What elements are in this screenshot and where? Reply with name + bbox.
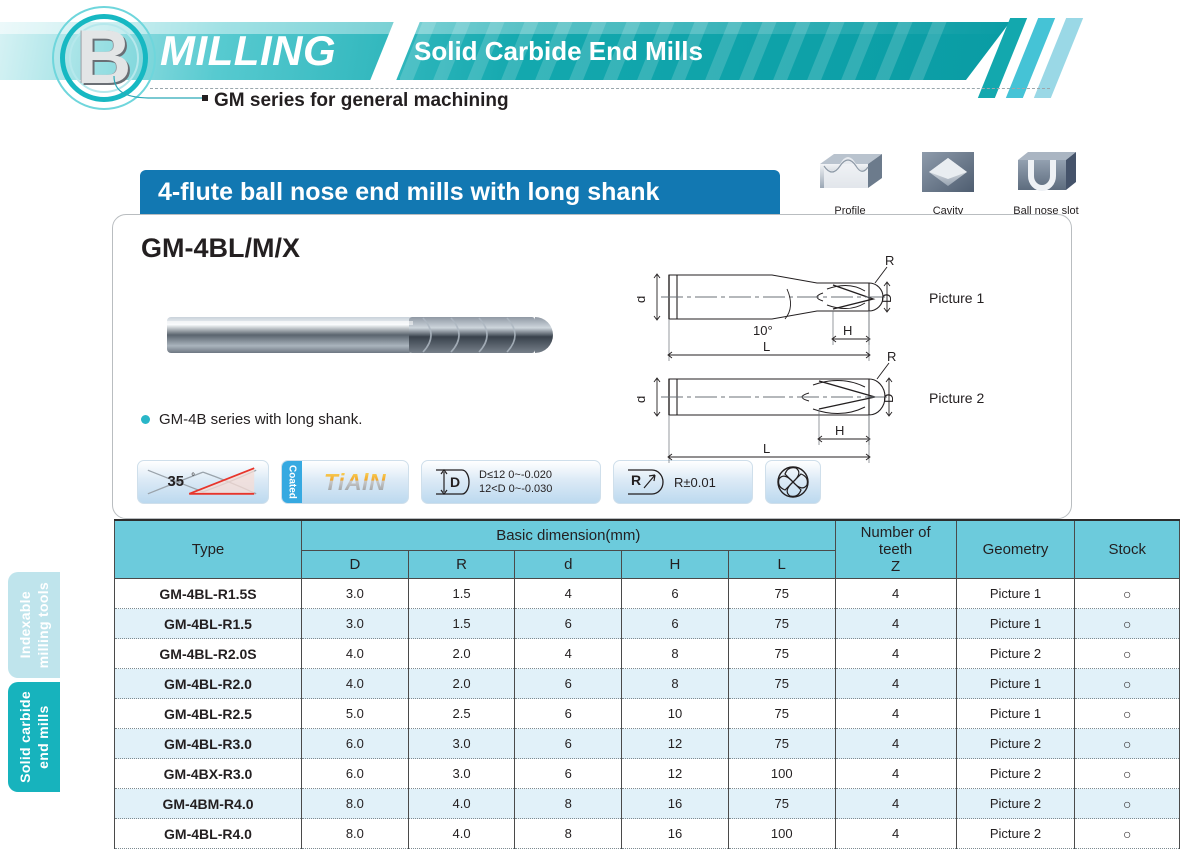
col-header-type: Type xyxy=(115,520,302,579)
application-icon-profile: Profile xyxy=(812,146,888,218)
svg-text:D: D xyxy=(879,294,894,303)
bullet-dot-icon xyxy=(141,415,150,424)
cell-stock: ○ xyxy=(1075,609,1180,639)
specification-table: Type Basic dimension(mm) Number of teeth… xyxy=(114,519,1180,849)
coating-badge: Coated TiAlN xyxy=(281,460,409,504)
sidebar-item-label-line1: Indexable xyxy=(17,591,33,658)
cell-Z: 4 xyxy=(835,699,956,729)
cell-Z: 4 xyxy=(835,759,956,789)
cell-type: GM-4BL-R1.5S xyxy=(115,579,302,609)
technical-drawings: d D R 10° H L Picture 1 xyxy=(637,249,1057,479)
cell-type: GM-4BX-R3.0 xyxy=(115,759,302,789)
cell-L: 75 xyxy=(728,579,835,609)
cell-L: 100 xyxy=(728,759,835,789)
cell-D: 5.0 xyxy=(302,699,409,729)
feature-bullet-text: GM-4B series with long shank. xyxy=(159,411,362,428)
helix-angle-icon: 35 ° xyxy=(138,460,268,504)
cell-D: 4.0 xyxy=(302,669,409,699)
cell-stock: ○ xyxy=(1075,639,1180,669)
cell-geometry: Picture 2 xyxy=(956,819,1075,849)
cell-geometry: Picture 2 xyxy=(956,639,1075,669)
cell-D: 8.0 xyxy=(302,789,409,819)
cell-Z: 4 xyxy=(835,729,956,759)
cell-R: 4.0 xyxy=(408,789,515,819)
cell-D: 3.0 xyxy=(302,609,409,639)
profile-icon xyxy=(812,146,888,198)
cell-H: 6 xyxy=(622,579,729,609)
table-row: GM-4BL-R3.06.03.0612754Picture 2○ xyxy=(115,729,1180,759)
cell-stock: ○ xyxy=(1075,699,1180,729)
cell-geometry: Picture 1 xyxy=(956,669,1075,699)
cell-type: GM-4BL-R2.5 xyxy=(115,699,302,729)
cell-d: 6 xyxy=(515,759,622,789)
cell-geometry: Picture 2 xyxy=(956,759,1075,789)
cell-L: 75 xyxy=(728,699,835,729)
cell-geometry: Picture 2 xyxy=(956,789,1075,819)
col-header-d: d xyxy=(515,551,622,579)
cell-R: 2.0 xyxy=(408,639,515,669)
product-photo xyxy=(161,305,561,365)
table-row: GM-4BL-R4.08.04.08161004Picture 2○ xyxy=(115,819,1180,849)
application-icon-ball-nose-slot: Ball nose slot xyxy=(1008,146,1084,218)
cell-stock: ○ xyxy=(1075,819,1180,849)
table-row: GM-4BL-R1.53.01.566754Picture 1○ xyxy=(115,609,1180,639)
cell-Z: 4 xyxy=(835,819,956,849)
cell-R: 4.0 xyxy=(408,819,515,849)
col-header-H: H xyxy=(622,551,729,579)
cell-stock: ○ xyxy=(1075,759,1180,789)
header-corner-stripes xyxy=(988,18,1118,98)
table-row: GM-4BX-R3.06.03.06121004Picture 2○ xyxy=(115,759,1180,789)
cell-H: 12 xyxy=(622,729,729,759)
col-header-basic-dimension: Basic dimension(mm) xyxy=(302,520,836,551)
cavity-icon xyxy=(910,146,986,198)
drawing-picture-2: d D R H L Picture 2 xyxy=(637,349,984,463)
table-header-row-1: Type Basic dimension(mm) Number of teeth… xyxy=(115,520,1180,551)
cell-geometry: Picture 1 xyxy=(956,609,1075,639)
sidebar-item-label-line2: milling tools xyxy=(35,582,51,668)
cell-L: 100 xyxy=(728,819,835,849)
svg-text:°: ° xyxy=(191,472,195,483)
drawing-picture-1: d D R 10° H L Picture 1 xyxy=(637,253,984,361)
tolerance-line-1: D≤12 0~-0.020 xyxy=(479,468,552,482)
svg-text:H: H xyxy=(843,323,852,338)
sidebar-item-solid-carbide-end-mills[interactable]: Solid carbide end mills xyxy=(8,682,60,792)
cell-type: GM-4BL-R2.0S xyxy=(115,639,302,669)
page-title: MILLING xyxy=(160,27,336,75)
cell-type: GM-4BL-R3.0 xyxy=(115,729,302,759)
picture-2-label: Picture 2 xyxy=(929,390,984,406)
cell-type: GM-4BL-R1.5 xyxy=(115,609,302,639)
cell-D: 6.0 xyxy=(302,729,409,759)
section-banner: 4-flute ball nose end mills with long sh… xyxy=(140,170,780,214)
cell-L: 75 xyxy=(728,609,835,639)
tolerance-line-2: 12<D 0~-0.030 xyxy=(479,482,552,496)
cell-R: 2.5 xyxy=(408,699,515,729)
cell-L: 75 xyxy=(728,729,835,759)
cell-type: GM-4BL-R2.0 xyxy=(115,669,302,699)
cell-R: 3.0 xyxy=(408,729,515,759)
col-header-number-of-teeth: Number of teeth Z xyxy=(835,520,956,579)
ball-nose-slot-icon xyxy=(1008,146,1084,198)
cell-stock: ○ xyxy=(1075,579,1180,609)
sidebar-item-label-line2: end mills xyxy=(35,705,51,768)
cell-R: 2.0 xyxy=(408,669,515,699)
cell-D: 8.0 xyxy=(302,819,409,849)
application-icons: Profile Cavity xyxy=(812,146,1092,220)
col-header-L: L xyxy=(728,551,835,579)
cell-d: 6 xyxy=(515,669,622,699)
svg-text:d: d xyxy=(637,396,648,403)
cell-H: 12 xyxy=(622,759,729,789)
page-subtitle: Solid Carbide End Mills xyxy=(414,35,703,67)
cell-d: 6 xyxy=(515,729,622,759)
svg-text:10°: 10° xyxy=(753,323,773,338)
cell-type: GM-4BM-R4.0 xyxy=(115,789,302,819)
svg-text:R: R xyxy=(887,349,896,364)
col-header-stock: Stock xyxy=(1075,520,1180,579)
cell-H: 8 xyxy=(622,669,729,699)
series-note: GM series for general machining xyxy=(214,89,509,113)
cell-d: 4 xyxy=(515,639,622,669)
cell-L: 75 xyxy=(728,669,835,699)
svg-text:R: R xyxy=(885,253,894,268)
table-body: GM-4BL-R1.5S3.01.546754Picture 1○GM-4BL-… xyxy=(115,579,1180,849)
cell-d: 6 xyxy=(515,699,622,729)
cell-H: 6 xyxy=(622,609,729,639)
diameter-tolerance-badge: D D≤12 0~-0.020 12<D 0~-0.030 xyxy=(421,460,601,504)
cell-type: GM-4BL-R4.0 xyxy=(115,819,302,849)
svg-text:H: H xyxy=(835,423,844,438)
section-banner-title: 4-flute ball nose end mills with long sh… xyxy=(158,178,659,207)
cell-Z: 4 xyxy=(835,669,956,699)
svg-text:L: L xyxy=(763,441,770,456)
cell-stock: ○ xyxy=(1075,669,1180,699)
cell-geometry: Picture 1 xyxy=(956,699,1075,729)
table-row: GM-4BL-R2.04.02.068754Picture 1○ xyxy=(115,669,1180,699)
cell-Z: 4 xyxy=(835,579,956,609)
cell-geometry: Picture 2 xyxy=(956,729,1075,759)
coated-label: Coated xyxy=(282,460,302,504)
cell-D: 6.0 xyxy=(302,759,409,789)
svg-text:d: d xyxy=(637,296,648,303)
cell-H: 16 xyxy=(622,819,729,849)
svg-text:D: D xyxy=(450,474,460,490)
series-leader-line xyxy=(112,74,208,104)
application-icon-cavity: Cavity xyxy=(910,146,986,218)
product-model: GM-4BL/M/X xyxy=(141,233,300,264)
cell-R: 1.5 xyxy=(408,579,515,609)
sidebar-item-label-line1: Solid carbide xyxy=(17,691,33,783)
cell-D: 4.0 xyxy=(302,639,409,669)
cell-H: 10 xyxy=(622,699,729,729)
cell-d: 4 xyxy=(515,579,622,609)
cell-L: 75 xyxy=(728,639,835,669)
col-header-D: D xyxy=(302,551,409,579)
cell-L: 75 xyxy=(728,789,835,819)
svg-text:L: L xyxy=(763,339,770,354)
sidebar-item-indexable-milling-tools[interactable]: Indexable milling tools xyxy=(8,572,60,678)
table-row: GM-4BL-R1.5S3.01.546754Picture 1○ xyxy=(115,579,1180,609)
picture-1-label: Picture 1 xyxy=(929,290,984,306)
col-header-geometry: Geometry xyxy=(956,520,1075,579)
svg-text:D: D xyxy=(881,394,896,403)
cell-stock: ○ xyxy=(1075,729,1180,759)
coating-name: TiAlN xyxy=(302,469,408,496)
helix-angle-badge: 35 ° xyxy=(137,460,269,504)
cell-geometry: Picture 1 xyxy=(956,579,1075,609)
cell-H: 8 xyxy=(622,639,729,669)
cell-d: 8 xyxy=(515,789,622,819)
table-row: GM-4BL-R2.0S4.02.048754Picture 2○ xyxy=(115,639,1180,669)
page-header: MILLING Solid Carbide End Mills B GM ser… xyxy=(0,0,1186,120)
cell-Z: 4 xyxy=(835,789,956,819)
helix-angle-value: 35 xyxy=(168,474,184,490)
cell-Z: 4 xyxy=(835,609,956,639)
table-row: GM-4BM-R4.08.04.0816754Picture 2○ xyxy=(115,789,1180,819)
col-header-R: R xyxy=(408,551,515,579)
product-card: GM-4BL/M/X GM-4B series with long shank. xyxy=(112,214,1072,519)
diameter-tolerance-icon: D xyxy=(428,462,472,502)
cell-R: 3.0 xyxy=(408,759,515,789)
feature-bullet: GM-4B series with long shank. xyxy=(141,411,362,428)
cell-d: 6 xyxy=(515,609,622,639)
cell-stock: ○ xyxy=(1075,789,1180,819)
cell-R: 1.5 xyxy=(408,609,515,639)
cell-H: 16 xyxy=(622,789,729,819)
table-row: GM-4BL-R2.55.02.5610754Picture 1○ xyxy=(115,699,1180,729)
cell-D: 3.0 xyxy=(302,579,409,609)
cell-d: 8 xyxy=(515,819,622,849)
cell-Z: 4 xyxy=(835,639,956,669)
